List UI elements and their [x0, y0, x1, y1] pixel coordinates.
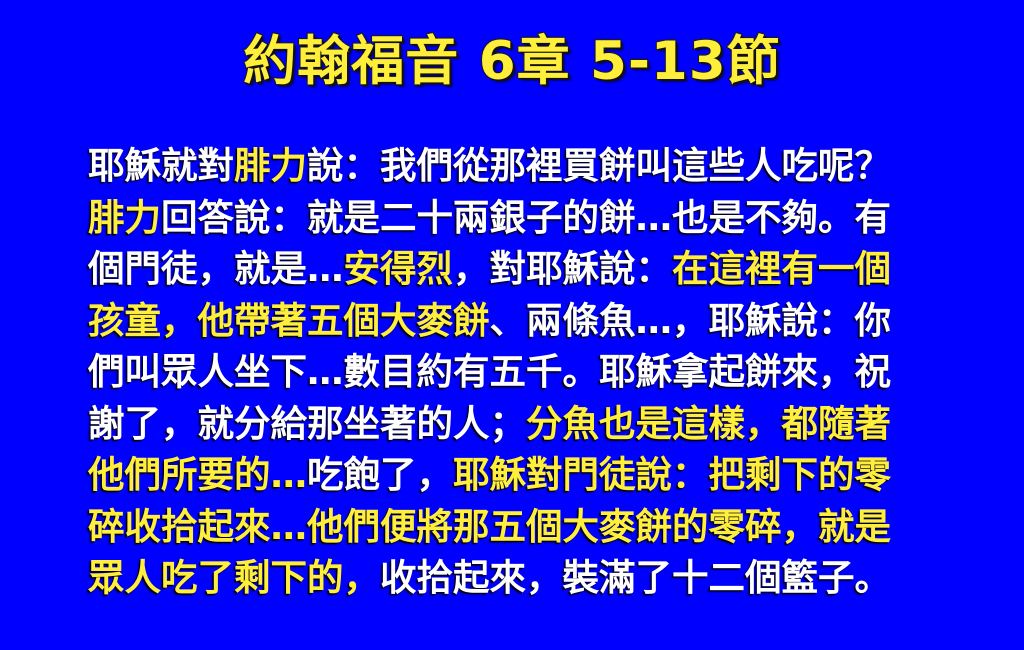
scripture-segment: 眾人吃了剩下的， [88, 556, 380, 599]
scripture-line: 眾人吃了剩下的，收拾起來，裝滿了十二個籃子。 [88, 552, 950, 604]
scripture-segment: 、兩條魚…，耶穌說：你 [490, 299, 892, 342]
scripture-segment: 在這裡有一個 [672, 247, 891, 290]
scripture-segment: 安得烈 [344, 247, 454, 290]
scripture-line: 耶穌就對腓力說：我們從那裡買餅叫這些人吃呢？ [88, 140, 950, 192]
scripture-segment: 說：我們從那裡買餅叫這些人吃呢？ [307, 144, 891, 187]
scripture-line: 碎收拾起來…他們便將那五個大麥餅的零碎，就是 [88, 501, 950, 553]
scripture-line: 們叫眾人坐下…數目約有五千。耶穌拿起餅來，祝 [88, 346, 950, 398]
scripture-segment: 腓力 [88, 196, 161, 239]
scripture-segment: 耶穌對門徒說：把剩下的零 [453, 453, 891, 496]
scripture-segment: 個門徒，就是… [88, 247, 344, 290]
scripture-segment: 分魚也是這樣，都隨著 [526, 402, 891, 445]
scripture-line: 孩童，他帶著五個大麥餅、兩條魚…，耶穌說：你 [88, 295, 950, 347]
scripture-line: 個門徒，就是…安得烈，對耶穌說：在這裡有一個 [88, 243, 950, 295]
scripture-line: 謝了，就分給那坐著的人；分魚也是這樣，都隨著 [88, 398, 950, 450]
scripture-segment: 碎收拾起來…他們便將那五個大麥餅的零碎，就是 [88, 505, 891, 548]
scripture-segment: 謝了，就分給那坐著的人； [88, 402, 526, 445]
scripture-segment: 吃飽了， [307, 453, 453, 496]
scripture-line: 他們所要的…吃飽了，耶穌對門徒說：把剩下的零 [88, 449, 950, 501]
scripture-segment: 收拾起來，裝滿了十二個籃子。 [380, 556, 891, 599]
scripture-line: 腓力回答說：就是二十兩銀子的餅…也是不夠。有 [88, 192, 950, 244]
scripture-segment: 腓力 [234, 144, 307, 187]
scripture-segment: 耶穌就對 [88, 144, 234, 187]
slide-title: 約翰福音 6章 5-13節 [0, 33, 1024, 90]
scripture-segment: 們叫眾人坐下…數目約有五千。耶穌拿起餅來，祝 [88, 350, 891, 393]
scripture-segment: ，對耶穌說： [453, 247, 672, 290]
scripture-segment: 回答說：就是二十兩銀子的餅…也是不夠。有 [161, 196, 891, 239]
scripture-segment: 孩童，他帶著五個大麥餅 [88, 299, 490, 342]
scripture-slide: 約翰福音 6章 5-13節 耶穌就對腓力說：我們從那裡買餅叫這些人吃呢？腓力回答… [0, 0, 1024, 650]
scripture-body: 耶穌就對腓力說：我們從那裡買餅叫這些人吃呢？腓力回答說：就是二十兩銀子的餅…也是… [88, 140, 950, 604]
scripture-segment: 他們所要的… [88, 453, 307, 496]
